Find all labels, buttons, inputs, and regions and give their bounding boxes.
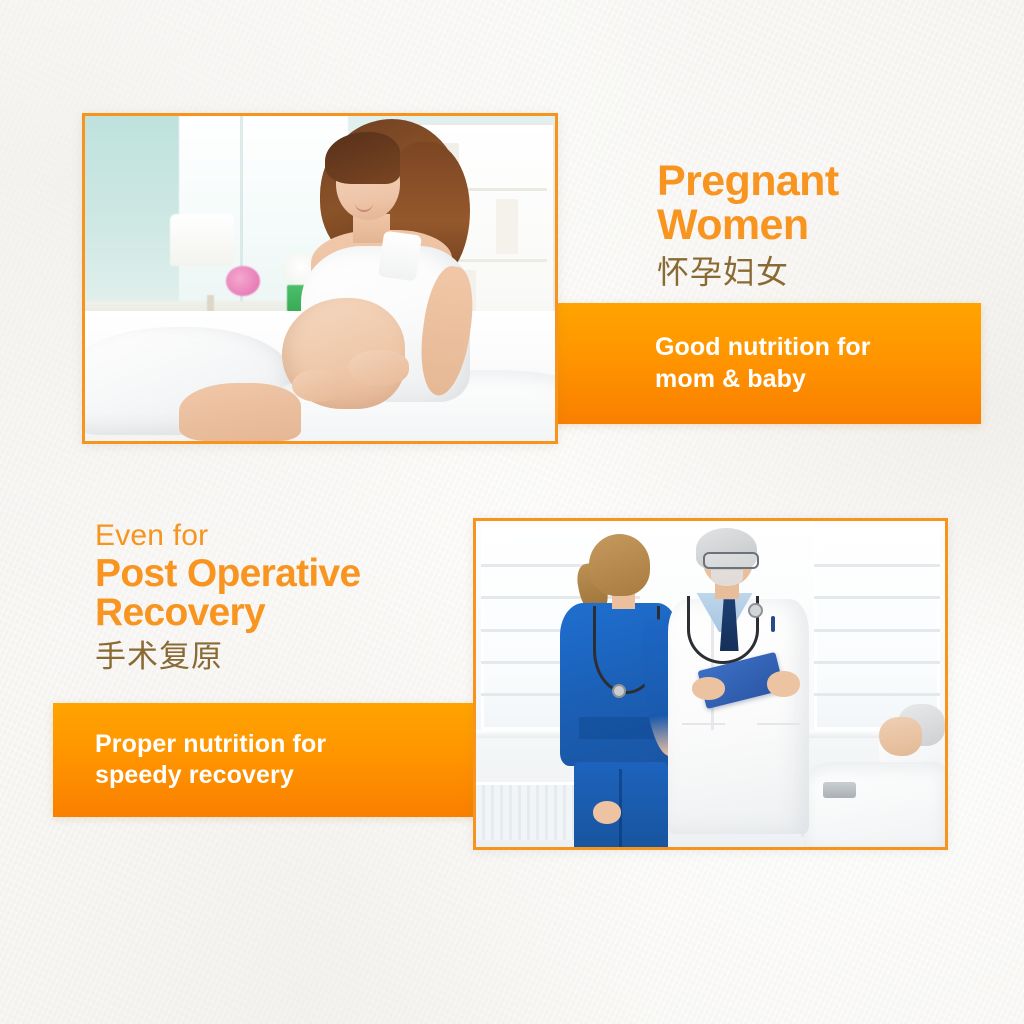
doctor-hand-left (692, 677, 725, 700)
post-operative-headline: Post Operative Recovery (95, 554, 495, 634)
bed-rail (823, 782, 856, 798)
tank-top-strap (378, 231, 422, 281)
hospital-room-scene (476, 521, 945, 847)
recovery-care-photo (473, 518, 948, 850)
woman-leg (179, 383, 301, 442)
pink-flowers (226, 266, 260, 296)
woman-hair-front (325, 132, 400, 184)
pregnant-women-text-block: Pregnant Women 怀孕妇女 (657, 160, 1007, 292)
bedroom-scene (85, 116, 555, 441)
stethoscope-bell-nurse (612, 684, 626, 698)
pregnant-women-headline: Pregnant Women (657, 160, 1007, 248)
pen-icon (771, 616, 775, 632)
pregnant-women-banner: Good nutrition for mom & baby (555, 303, 981, 424)
coat-pocket-left (682, 723, 724, 751)
woman-hand-left (292, 370, 344, 403)
pregnant-women-banner-text: Good nutrition for mom & baby (655, 332, 871, 395)
post-operative-banner: Proper nutrition for speedy recovery (53, 703, 475, 817)
post-operative-headline-cn: 手术复原 (95, 638, 495, 676)
post-operative-banner-text: Proper nutrition for speedy recovery (95, 729, 326, 792)
post-operative-eyebrow: Even for (95, 520, 495, 552)
stethoscope-bell-doctor (748, 603, 763, 618)
doctor-hand-right (767, 671, 800, 697)
promo-poster: Good nutrition for mom & baby Pregnant W… (0, 0, 1024, 1024)
lamp-icon (170, 214, 234, 266)
glasses-icon (703, 552, 759, 569)
coat-pocket-right (757, 723, 799, 751)
patient-face (879, 717, 921, 756)
patient-gown (804, 762, 945, 847)
nurse-hair (589, 534, 650, 596)
pregnant-woman-photo (82, 113, 558, 444)
window-right (814, 528, 941, 730)
post-operative-text-block: Even for Post Operative Recovery 手术复原 (95, 520, 495, 676)
woman-hand-right (348, 350, 409, 386)
pregnant-women-headline-cn: 怀孕妇女 (657, 253, 1007, 292)
